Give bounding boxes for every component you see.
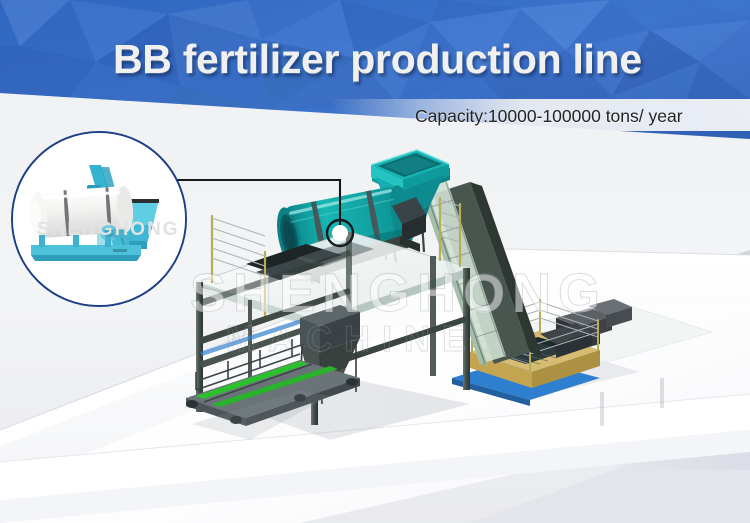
inset-watermark: SHENGHONG bbox=[37, 219, 180, 241]
product-banner-image: SHENGHONG MACHINE bbox=[0, 0, 750, 523]
capacity-text: Capacity:10000-100000 tons/ year bbox=[415, 103, 745, 129]
mixer-photo-inset: SHENGHONG bbox=[11, 131, 187, 307]
page-title: BB fertilizer production line bbox=[113, 36, 733, 83]
